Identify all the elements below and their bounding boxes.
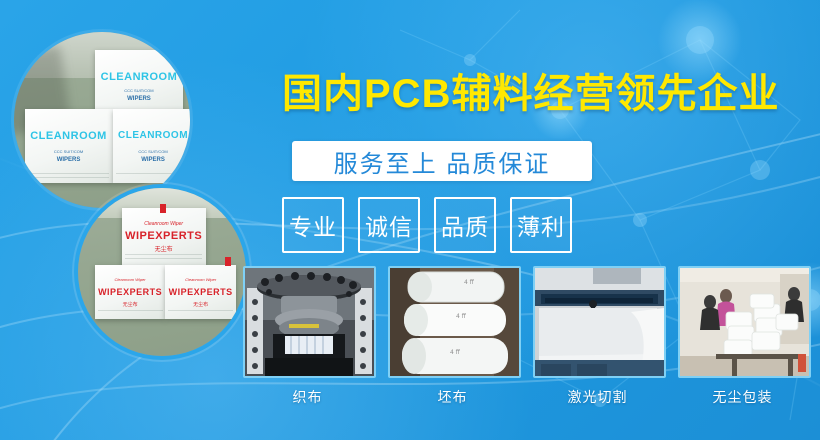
process-caption-cleanroom-packing: 无尘包装 bbox=[678, 387, 807, 407]
feature-tag-quality[interactable]: 品质 bbox=[434, 197, 496, 253]
thumbnail-knitting-machine[interactable] bbox=[243, 266, 376, 378]
process-caption-greige-fabric: 坯布 bbox=[388, 387, 517, 407]
process-caption-weaving: 织布 bbox=[243, 387, 372, 407]
process-item-cleanroom-packing[interactable]: 无尘包装 bbox=[678, 266, 807, 407]
process-item-greige-fabric[interactable]: 4 ff4 ff4 ff 坯布 bbox=[388, 266, 517, 407]
svg-text:4 ff: 4 ff bbox=[456, 313, 467, 320]
svg-text:4 ff: 4 ff bbox=[450, 349, 461, 356]
banner-headline: 国内PCB辅料经营领先企业 bbox=[282, 74, 782, 114]
product-photo-cleanroom-boxes: CLEANROOM CCC SUIT/COM WIPERS CLEANROOM … bbox=[14, 32, 190, 208]
process-caption-laser-cutting: 激光切割 bbox=[533, 387, 662, 407]
feature-tag-list: 专业 诚信 品质 薄利 bbox=[282, 197, 572, 253]
process-item-weaving[interactable]: 织布 bbox=[243, 266, 372, 407]
feature-tag-professional[interactable]: 专业 bbox=[282, 197, 344, 253]
promotional-banner: CLEANROOM CCC SUIT/COM WIPERS CLEANROOM … bbox=[0, 0, 820, 440]
feature-tag-low-margin[interactable]: 薄利 bbox=[510, 197, 572, 253]
feature-tag-integrity[interactable]: 诚信 bbox=[358, 197, 420, 253]
thumbnail-packing-workers[interactable] bbox=[678, 266, 811, 378]
process-thumbnail-list: 织布 4 bbox=[243, 266, 807, 407]
thumbnail-laser-cutter[interactable] bbox=[533, 266, 666, 378]
product-photo-wipexperts-packs: Cleanroom Wiper WIPEXPERTS 无尘布 Cleanroom… bbox=[78, 188, 246, 356]
banner-subheadline: 服务至上 品质保证 bbox=[292, 141, 592, 181]
thumbnail-fabric-rolls[interactable]: 4 ff4 ff4 ff bbox=[388, 266, 521, 378]
process-item-laser-cutting[interactable]: 激光切割 bbox=[533, 266, 662, 407]
svg-text:4 ff: 4 ff bbox=[464, 279, 475, 286]
